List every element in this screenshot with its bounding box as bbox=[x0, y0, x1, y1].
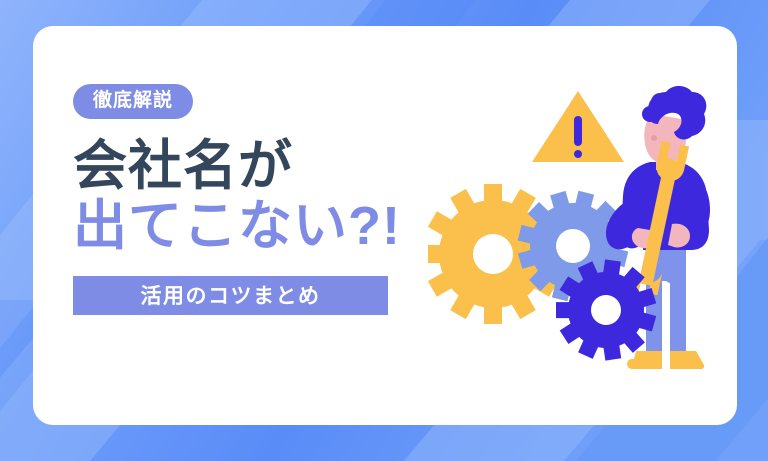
text-column: 徹底解説 会社名が 出てこない?! 活用のコツまとめ bbox=[73, 84, 443, 315]
subtitle-bar: 活用のコツまとめ bbox=[73, 276, 388, 315]
headline-line-2: 出てこない?! bbox=[73, 197, 443, 255]
content-card: 徹底解説 会社名が 出てこない?! 活用のコツまとめ bbox=[33, 26, 737, 425]
category-badge: 徹底解説 bbox=[73, 84, 193, 119]
subtitle-bar-label: 活用のコツまとめ bbox=[141, 280, 321, 310]
poster-canvas: 徹底解説 会社名が 出てこない?! 活用のコツまとめ bbox=[0, 0, 768, 461]
headline-line-1: 会社名が bbox=[73, 137, 443, 195]
warning-triangle-icon bbox=[532, 91, 624, 162]
illustration-person-with-gears bbox=[428, 66, 728, 396]
page-title: 会社名が 出てこない?! bbox=[73, 137, 443, 256]
